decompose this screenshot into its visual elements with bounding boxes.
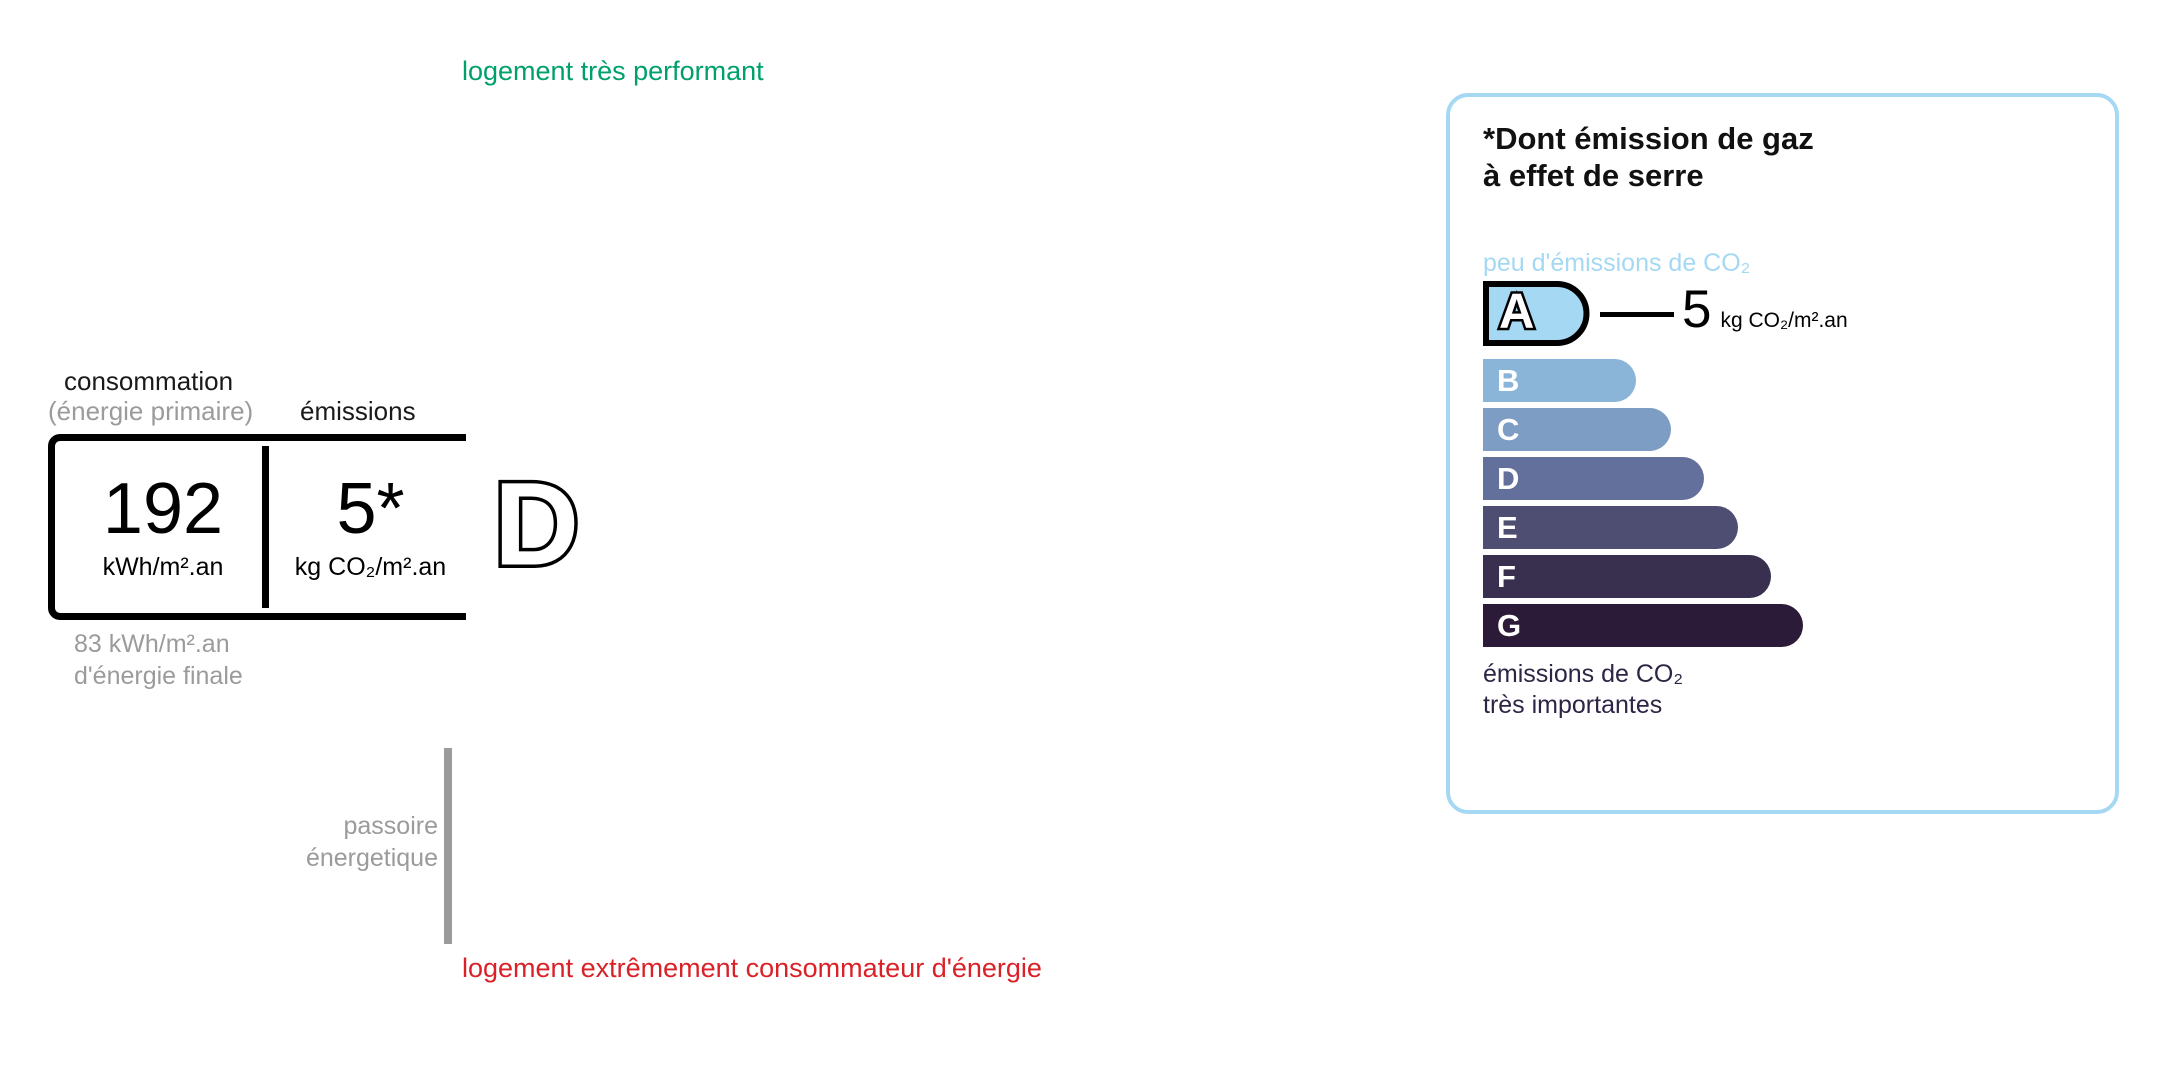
- final-energy-note: 83 kWh/m².an d'énergie finale: [74, 628, 243, 692]
- passoire-energetique-label: passoire énergetique: [250, 810, 438, 874]
- co2-band-letter: E: [1497, 511, 1518, 542]
- band-letter: B: [490, 204, 538, 270]
- emission-unit: kg CO₂/m².an: [295, 553, 446, 582]
- consumption-value-group: 192 kWh/m².an: [59, 441, 267, 613]
- band-letter: G: [490, 886, 541, 952]
- consumption-unit: kWh/m².an: [103, 553, 224, 582]
- co2-band-a-selected: A: [1483, 281, 1590, 346]
- co2-value: 5: [1682, 283, 1711, 336]
- co2-value-group: 5 kg CO₂/m².an: [1682, 283, 1848, 336]
- co2-band-letter: A: [1499, 287, 1534, 336]
- value-box: 192 kWh/m².an 5* kg CO₂/m².an: [48, 434, 466, 620]
- co2-unit: kg CO₂/m².an: [1720, 309, 1847, 333]
- co2-band-letter: B: [1497, 364, 1519, 395]
- emission-value-group: 5* kg CO₂/m².an: [273, 441, 468, 613]
- band-letter: A: [490, 92, 538, 158]
- co2-panel-title: *Dont émission de gaz à effet de serre: [1483, 121, 1814, 194]
- co2-band-letter: F: [1497, 560, 1516, 591]
- co2-band-b: B: [1483, 359, 1636, 402]
- scale-top-caption: logement très performant: [462, 56, 764, 87]
- co2-band-letter: C: [1497, 413, 1519, 444]
- co2-bottom-caption: émissions de CO₂ très importantes: [1483, 659, 1683, 722]
- co2-band-c: C: [1483, 408, 1671, 451]
- scale-bottom-caption: logement extrêmement consommateur d'éner…: [462, 953, 1042, 984]
- band-letter: D: [494, 466, 579, 584]
- co2-top-caption: peu d'émissions de CO₂: [1483, 249, 1750, 278]
- band-letter: F: [490, 774, 530, 840]
- co2-band-d: D: [1483, 457, 1704, 500]
- emission-value: 5*: [336, 473, 404, 545]
- co2-band-g: G: [1483, 604, 1803, 647]
- co2-leader-line: [1600, 312, 1674, 317]
- band-letter: C: [490, 316, 538, 382]
- emissions-label: émissions: [300, 396, 416, 427]
- co2-panel: *Dont émission de gaz à effet de serre p…: [1446, 93, 2119, 814]
- consumption-label: consommation: [64, 366, 233, 397]
- value-box-divider: [262, 446, 269, 608]
- consumption-value: 192: [103, 473, 223, 545]
- band-letter: E: [490, 662, 534, 728]
- co2-band-e: E: [1483, 506, 1738, 549]
- consumption-sublabel: (énergie primaire): [48, 396, 253, 427]
- energy-scale: logement très performant A B C D: [0, 0, 1400, 1079]
- co2-band-letter: G: [1497, 609, 1521, 640]
- co2-band-letter: D: [1497, 462, 1519, 493]
- dpe-diagram: logement très performant A B C D: [0, 0, 2169, 1079]
- passoire-bracket: [444, 748, 452, 944]
- co2-band-f: F: [1483, 555, 1771, 598]
